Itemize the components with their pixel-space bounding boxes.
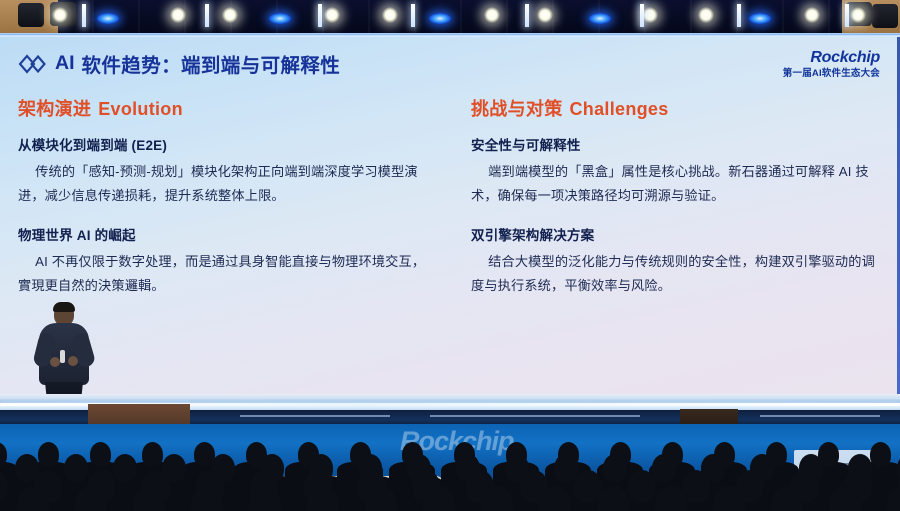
brand-wordmark: Rockchip: [783, 50, 880, 66]
slide-columns: 架构演进Evolution 从模块化到端到端 (E2E) 传统的「感知-预测-规…: [0, 95, 900, 308]
spotlight: [642, 7, 658, 23]
blue-wash-light: [749, 13, 771, 24]
audience-head: [870, 442, 891, 467]
audience-area: [0, 424, 900, 511]
subhead-safety: 安全性与可解释性: [471, 134, 884, 154]
title-prefix: AI: [55, 52, 75, 75]
spotlight: [698, 7, 714, 23]
moving-head-light: [872, 4, 898, 28]
conference-photo: AI 软件趋势：端到端与可解释性 Rockchip 第一届AI软件生态大会 架构…: [0, 0, 900, 511]
event-logo: Rockchip 第一届AI软件生态大会: [783, 50, 880, 79]
audience-head: [90, 442, 111, 467]
spotlight: [222, 7, 238, 23]
vertical-light-bar: [845, 4, 849, 27]
body-physical-ai: AI 不再仅限于数字处理，而是通过具身智能直接与物理环境交互，實現更自然的決策邏…: [18, 250, 431, 299]
blue-wash-light: [97, 13, 119, 24]
audience-head: [38, 442, 59, 467]
audience-head: [142, 442, 163, 467]
spotlight: [324, 7, 340, 23]
audience-head: [603, 454, 627, 482]
audience-head: [628, 470, 656, 503]
section-heading-evolution: 架构演进Evolution: [18, 95, 431, 121]
spotlight: [170, 7, 186, 23]
body-e2e: 传统的「感知-预测-规划」模块化架构正向端到端深度学习模型演进，减少信息传递损耗…: [18, 160, 431, 209]
moving-head-light: [18, 3, 44, 27]
audience-head: [652, 454, 676, 482]
audience-head: [113, 454, 137, 482]
vertical-light-bar: [737, 4, 741, 27]
event-subtitle: 第一届AI软件生态大会: [783, 69, 880, 79]
vertical-light-bar: [205, 4, 209, 27]
spotlight: [537, 7, 553, 23]
blue-wash-light: [589, 13, 611, 24]
vertical-light-bar: [411, 4, 415, 27]
body-dual-engine: 结合大模型的泛化能力与传统规则的安全性，构建双引擎驱动的调度与执行系统，平衡效率…: [471, 250, 884, 299]
page-title: 软件趋势：端到端与可解释性: [82, 49, 341, 78]
slide-title-bar: AI 软件趋势：端到端与可解释性: [18, 49, 340, 78]
subhead-physical-ai: 物理世界 AI 的崛起: [18, 224, 431, 244]
section-heading-cn: 挑战与对策: [471, 99, 563, 119]
microphone-icon: [60, 350, 65, 363]
audience-head: [64, 454, 88, 482]
column-evolution: 架构演进Evolution 从模块化到端到端 (E2E) 传统的「感知-预测-规…: [0, 95, 453, 308]
spotlight: [382, 7, 398, 23]
spotlight: [804, 7, 820, 23]
spotlight: [850, 7, 866, 23]
vertical-light-bar: [525, 4, 529, 27]
presentation-slide: AI 软件趋势：端到端与可解释性 Rockchip 第一届AI软件生态大会 架构…: [0, 37, 900, 394]
double-diamond-icon: [18, 54, 48, 74]
subhead-dual-engine: 双引擎架构解决方案: [471, 224, 884, 244]
subhead-e2e: 从模块化到端到端 (E2E): [18, 134, 431, 154]
column-challenges: 挑战与对策Challenges 安全性与可解释性 端到端模型的「黑盒」属性是核心…: [453, 95, 900, 308]
section-heading-en: Evolution: [98, 99, 183, 119]
spotlight: [52, 7, 68, 23]
vertical-light-bar: [318, 4, 322, 27]
body-safety: 端到端模型的「黑盒」属性是核心挑战。新石器通过可解释 AI 技术，确保每一项决策…: [471, 160, 884, 209]
vertical-light-bar: [640, 4, 644, 27]
blue-wash-light: [269, 13, 291, 24]
stage-light-rig: [0, 0, 900, 33]
speaker-hair: [53, 302, 75, 312]
speaker-hand-left: [50, 357, 60, 367]
spotlight: [484, 7, 500, 23]
section-heading-challenges: 挑战与对策Challenges: [471, 95, 884, 121]
speaker-hand-right: [68, 356, 78, 366]
vertical-light-bar: [82, 4, 86, 27]
audience-head: [554, 454, 578, 482]
section-heading-cn: 架构演进: [18, 99, 91, 119]
blue-wash-light: [429, 13, 451, 24]
section-heading-en: Challenges: [570, 99, 669, 119]
